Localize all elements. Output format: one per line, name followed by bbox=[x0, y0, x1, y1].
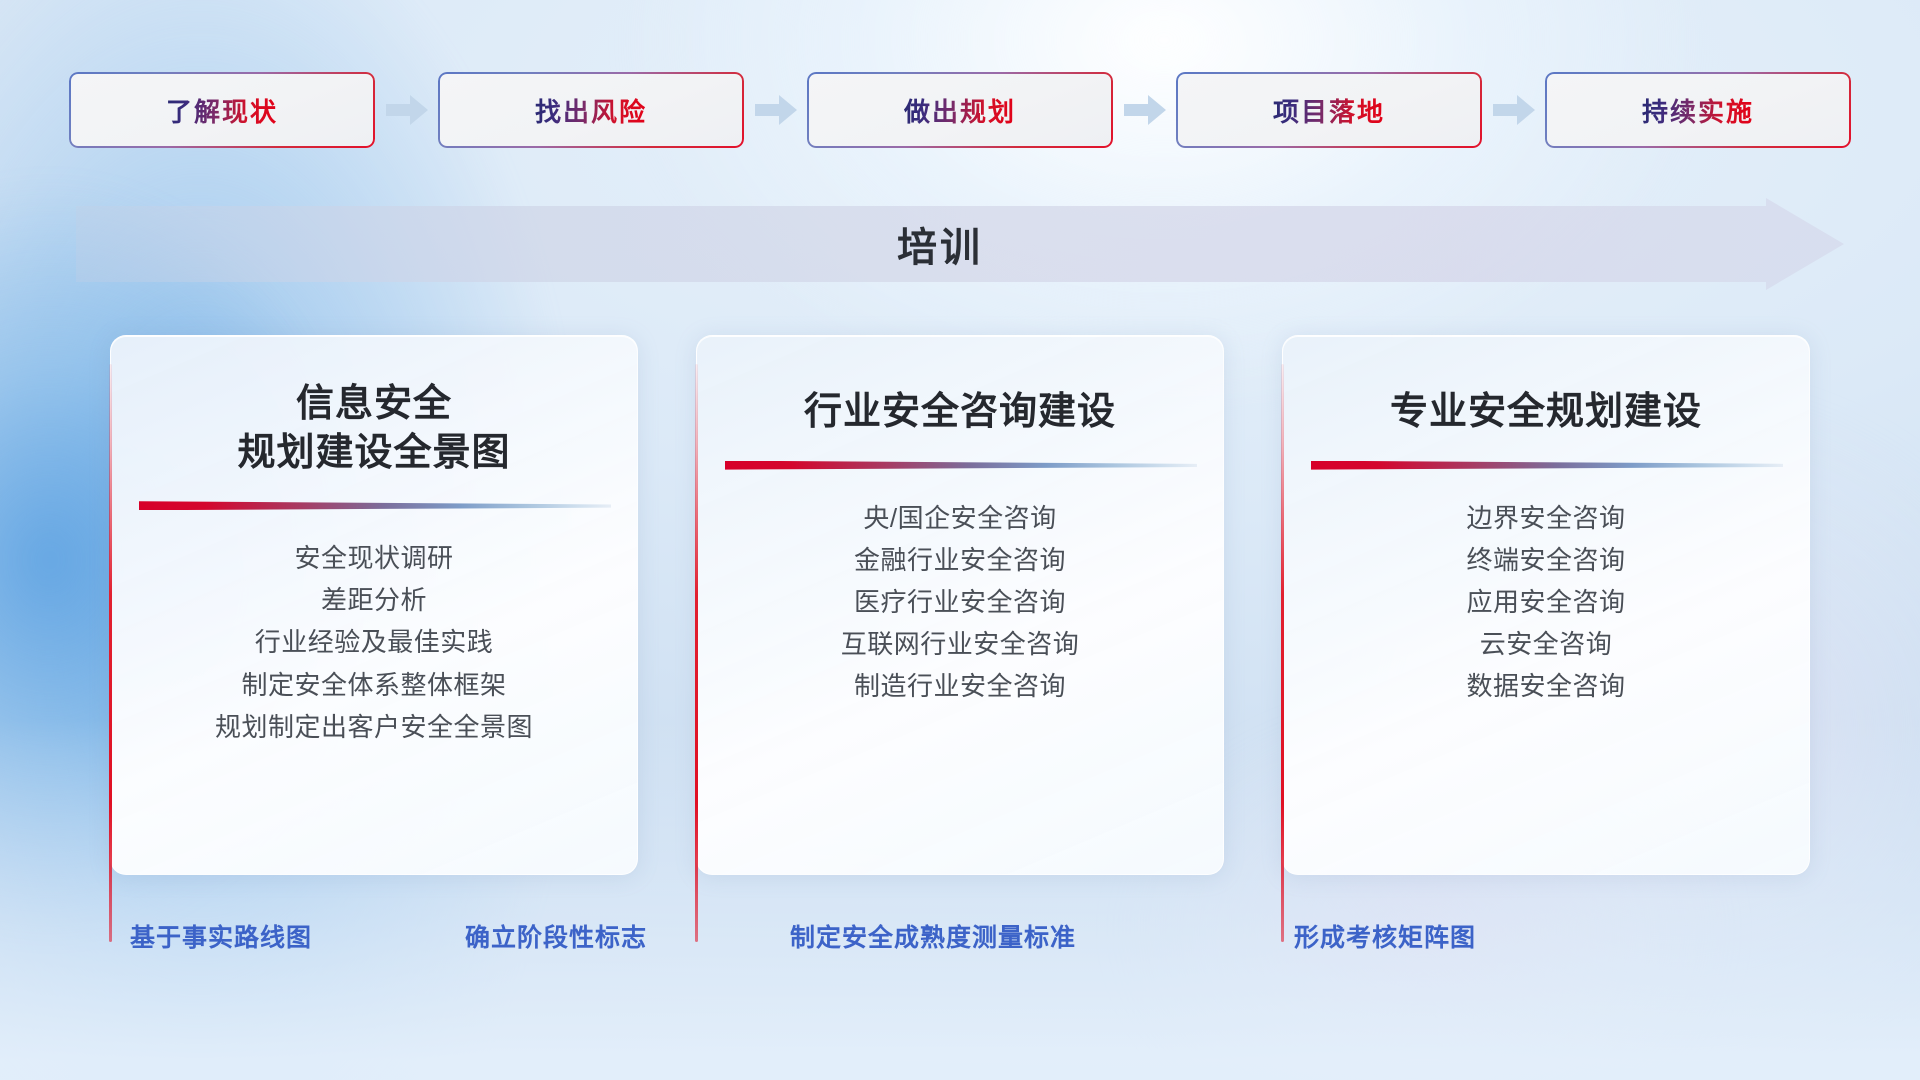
list-item: 数据安全咨询 bbox=[1466, 665, 1625, 707]
footnote-4: 形成考核矩阵图 bbox=[1294, 918, 1476, 954]
card-divider-gradient-line bbox=[139, 501, 611, 510]
step-arrow-icon-1 bbox=[375, 72, 438, 148]
step-chip-1[interactable]: 了解现状 bbox=[69, 72, 375, 148]
step-label-5: 持续实施 bbox=[1642, 92, 1754, 129]
list-item: 互联网行业安全咨询 bbox=[841, 623, 1080, 665]
step-label-2: 找出风险 bbox=[535, 92, 647, 129]
card-industry-security-consulting[interactable]: 行业安全咨询建设 央/国企安全咨询 金融行业安全咨询 医疗行业安全咨询 互联网行… bbox=[696, 335, 1224, 875]
list-item: 规划制定出客户安全全景图 bbox=[215, 706, 533, 748]
card-left-accent-bar bbox=[109, 364, 112, 942]
list-item: 终端安全咨询 bbox=[1466, 539, 1625, 581]
card-divider-gradient-line bbox=[725, 461, 1197, 470]
card-list: 安全现状调研 差距分析 行业经验及最佳实践 制定安全体系整体框架 规划制定出客户… bbox=[137, 537, 611, 748]
process-step-row: 了解现状 找出风险 做出规划 项目落地 bbox=[0, 72, 1920, 148]
card-title: 专业安全规划建设 bbox=[1390, 388, 1702, 437]
step-arrow-icon-3 bbox=[1113, 72, 1176, 148]
card-left-accent-bar bbox=[695, 364, 698, 942]
step-arrow-icon-2 bbox=[744, 72, 807, 148]
step-chip-3[interactable]: 做出规划 bbox=[807, 72, 1113, 148]
list-item: 边界安全咨询 bbox=[1466, 497, 1625, 539]
step-label-3: 做出规划 bbox=[904, 92, 1016, 129]
step-chip-5[interactable]: 持续实施 bbox=[1545, 72, 1851, 148]
list-item: 医疗行业安全咨询 bbox=[854, 581, 1066, 623]
list-item: 制定安全体系整体框架 bbox=[241, 664, 506, 706]
footnote-2: 确立阶段性标志 bbox=[465, 918, 647, 954]
step-label-4: 项目落地 bbox=[1273, 92, 1385, 129]
list-item: 安全现状调研 bbox=[294, 537, 453, 579]
step-arrow-icon-4 bbox=[1482, 72, 1545, 148]
card-divider bbox=[1309, 459, 1783, 471]
list-item: 制造行业安全咨询 bbox=[854, 665, 1066, 707]
card-list: 央/国企安全咨询 金融行业安全咨询 医疗行业安全咨询 互联网行业安全咨询 制造行… bbox=[723, 497, 1197, 708]
card-title: 行业安全咨询建设 bbox=[804, 388, 1116, 437]
card-left-accent-bar bbox=[1281, 364, 1284, 942]
step-chip-2[interactable]: 找出风险 bbox=[438, 72, 744, 148]
list-item: 金融行业安全咨询 bbox=[854, 539, 1066, 581]
list-item: 云安全咨询 bbox=[1480, 623, 1613, 665]
training-banner-label: 培训 bbox=[76, 198, 1844, 290]
step-label-1: 了解现状 bbox=[166, 92, 278, 129]
training-banner: 培训 bbox=[76, 198, 1844, 290]
card-divider-gradient-line bbox=[1311, 461, 1783, 470]
card-divider bbox=[137, 499, 611, 511]
card-professional-security-planning[interactable]: 专业安全规划建设 边界安全咨询 终端安全咨询 应用安全咨询 云安全咨询 数据安全… bbox=[1282, 335, 1810, 875]
card-info-security-blueprint[interactable]: 信息安全 规划建设全景图 安全现状调研 差距分析 行业经验及最佳实践 制定安全体… bbox=[110, 335, 638, 875]
card-divider bbox=[723, 459, 1197, 471]
footnote-3: 制定安全成熟度测量标准 bbox=[790, 918, 1076, 954]
list-item: 央/国企安全咨询 bbox=[863, 497, 1056, 539]
card-title: 信息安全 规划建设全景图 bbox=[237, 380, 510, 477]
step-chip-4[interactable]: 项目落地 bbox=[1176, 72, 1482, 148]
list-item: 差距分析 bbox=[321, 579, 427, 621]
card-list: 边界安全咨询 终端安全咨询 应用安全咨询 云安全咨询 数据安全咨询 bbox=[1309, 497, 1783, 708]
footnote-row: 基于事实路线图 确立阶段性标志 制定安全成熟度测量标准 形成考核矩阵图 bbox=[0, 918, 1920, 962]
footnote-1: 基于事实路线图 bbox=[130, 918, 312, 954]
card-row: 信息安全 规划建设全景图 安全现状调研 差距分析 行业经验及最佳实践 制定安全体… bbox=[0, 335, 1920, 875]
list-item: 行业经验及最佳实践 bbox=[255, 621, 494, 663]
list-item: 应用安全咨询 bbox=[1466, 581, 1625, 623]
